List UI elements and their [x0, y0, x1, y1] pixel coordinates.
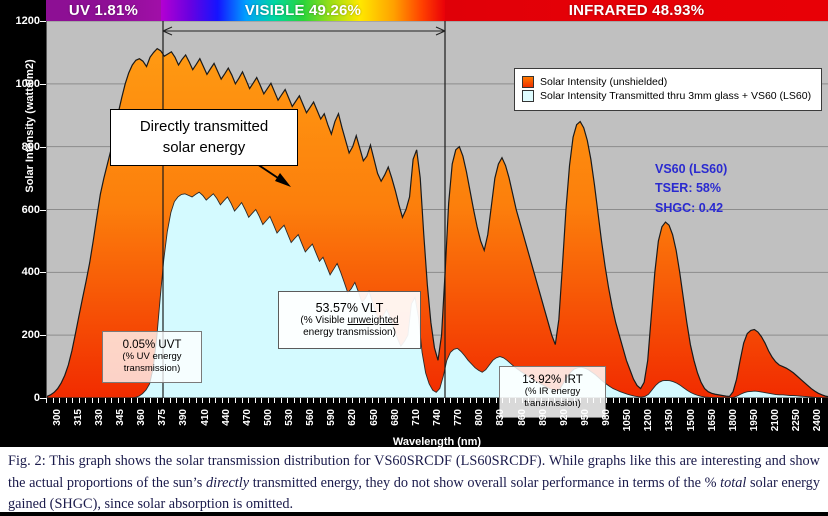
- x-tick-300: 300: [53, 409, 63, 426]
- x-minor-tick: [587, 398, 588, 403]
- legend-item-transmitted: Solar Intensity Transmitted thru 3mm gla…: [522, 90, 814, 102]
- x-minor-tick: [378, 398, 379, 403]
- x-minor-tick: [281, 398, 282, 403]
- legend-swatch-cyan-icon: [522, 90, 534, 102]
- caption-italic-directly: directly: [206, 475, 249, 491]
- x-minor-tick: [463, 398, 464, 403]
- x-minor-tick: [567, 398, 568, 403]
- x-tick-560: 560: [306, 409, 316, 426]
- x-tick-1200: 1200: [644, 409, 654, 431]
- x-minor-tick: [528, 398, 529, 403]
- x-tick-920: 920: [560, 409, 570, 426]
- x-tick-440: 440: [222, 409, 232, 426]
- x-minor-tick: [424, 398, 425, 403]
- x-minor-tick: [730, 398, 731, 403]
- solar-spectrum-chart: UV 1.81% VISIBLE 49.26% INFRARED 48.93% …: [0, 0, 828, 447]
- x-minor-tick: [470, 398, 471, 403]
- x-tick-830: 830: [496, 409, 506, 426]
- x-minor-tick: [561, 398, 562, 403]
- spec-product: VS60 (LS60): [655, 160, 727, 179]
- x-minor-tick: [398, 398, 399, 403]
- x-minor-tick: [821, 398, 822, 403]
- band-infrared: INFRARED 48.93%: [445, 0, 828, 21]
- x-minor-tick: [711, 398, 712, 403]
- x-minor-tick: [176, 398, 177, 403]
- x-tick-2400: 2400: [813, 409, 823, 431]
- x-minor-tick: [294, 398, 295, 403]
- callout-irt-value: 13.92% IRT: [522, 374, 583, 386]
- callout-direct-line1: Directly transmitted: [140, 117, 268, 137]
- x-minor-tick: [698, 398, 699, 403]
- x-tick-680: 680: [391, 409, 401, 426]
- x-tick-1800: 1800: [729, 409, 739, 431]
- x-minor-tick: [437, 398, 438, 403]
- x-minor-tick: [255, 398, 256, 403]
- x-minor-tick: [313, 398, 314, 403]
- x-minor-tick: [509, 398, 510, 403]
- figure-caption-text: Fig. 2: This graph shows the solar trans…: [8, 451, 820, 516]
- callout-uvt: 0.05% UVT (% UV energy transmission): [102, 331, 202, 383]
- x-minor-tick: [444, 398, 445, 403]
- spec-shgc: SHGC: 0.42: [655, 199, 727, 218]
- callout-vlt-line1: (% Visible unweighted: [300, 315, 398, 328]
- x-minor-tick: [150, 398, 151, 403]
- band-visible: VISIBLE 49.26%: [161, 0, 445, 21]
- x-minor-tick: [79, 398, 80, 403]
- x-minor-tick: [202, 398, 203, 403]
- x-minor-tick: [685, 398, 686, 403]
- x-tick-375: 375: [158, 409, 168, 426]
- figure-page: UV 1.81% VISIBLE 49.26% INFRARED 48.93% …: [0, 0, 828, 512]
- x-minor-tick: [600, 398, 601, 403]
- band-infrared-label: INFRARED 48.93%: [569, 2, 705, 19]
- x-tick-360: 360: [137, 409, 147, 426]
- band-uv: UV 1.81%: [46, 0, 161, 21]
- x-minor-tick: [300, 398, 301, 403]
- x-tick-1950: 1950: [750, 409, 760, 431]
- callout-uvt-value: 0.05% UVT: [123, 339, 182, 351]
- x-minor-tick: [352, 398, 353, 403]
- callout-uvt-line1: (% UV energy: [122, 351, 181, 363]
- x-minor-tick: [131, 398, 132, 403]
- x-minor-tick: [242, 398, 243, 403]
- callout-vlt-line1-a: (% Visible: [300, 315, 347, 326]
- x-tick-890: 890: [539, 409, 549, 426]
- x-tick-1500: 1500: [687, 409, 697, 431]
- caption-part2: transmitted energy, they do not show ove…: [249, 475, 720, 491]
- callout-vlt-line1-underlined: unweighted: [347, 315, 398, 326]
- x-tick-470: 470: [243, 409, 253, 426]
- x-minor-tick: [691, 398, 692, 403]
- x-minor-tick: [535, 398, 536, 403]
- x-tick-500: 500: [264, 409, 274, 426]
- x-minor-tick: [724, 398, 725, 403]
- x-minor-tick: [92, 398, 93, 403]
- x-minor-tick: [515, 398, 516, 403]
- x-minor-tick: [137, 398, 138, 403]
- x-minor-tick: [795, 398, 796, 403]
- visible-range-arrow: [163, 27, 445, 35]
- x-tick-950: 950: [581, 409, 591, 426]
- x-minor-tick: [85, 398, 86, 403]
- y-tick-600: 600: [22, 204, 40, 216]
- x-tick-740: 740: [433, 409, 443, 426]
- x-minor-tick: [541, 398, 542, 403]
- band-uv-label: UV 1.81%: [69, 2, 138, 19]
- x-minor-tick: [66, 398, 67, 403]
- x-minor-tick: [105, 398, 106, 403]
- x-minor-tick: [391, 398, 392, 403]
- x-tick-1050: 1050: [623, 409, 633, 431]
- x-minor-tick: [359, 398, 360, 403]
- x-minor-tick: [737, 398, 738, 403]
- x-minor-tick: [98, 398, 99, 403]
- x-tick-860: 860: [518, 409, 528, 426]
- x-minor-tick: [430, 398, 431, 403]
- callout-vlt-line2: energy transmission): [303, 327, 396, 340]
- x-minor-tick: [763, 398, 764, 403]
- x-tick-2100: 2100: [771, 409, 781, 431]
- x-minor-tick: [756, 398, 757, 403]
- x-minor-tick: [743, 398, 744, 403]
- x-minor-tick: [189, 398, 190, 403]
- x-minor-tick: [228, 398, 229, 403]
- x-minor-tick: [704, 398, 705, 403]
- x-tick-410: 410: [201, 409, 211, 426]
- product-spec-text: VS60 (LS60) TSER: 58% SHGC: 0.42: [655, 160, 727, 218]
- x-minor-tick: [307, 398, 308, 403]
- x-minor-tick: [646, 398, 647, 403]
- x-minor-tick: [144, 398, 145, 403]
- x-minor-tick: [404, 398, 405, 403]
- x-tick-590: 590: [327, 409, 337, 426]
- x-minor-tick: [339, 398, 340, 403]
- x-minor-tick: [574, 398, 575, 403]
- x-minor-tick: [170, 398, 171, 403]
- x-minor-tick: [196, 398, 197, 403]
- y-tick-1000: 1000: [16, 78, 40, 90]
- legend-swatch-orange-icon: [522, 76, 534, 88]
- x-tick-330: 330: [95, 409, 105, 426]
- x-tick-390: 390: [179, 409, 189, 426]
- figure-caption: Fig. 2: This graph shows the solar trans…: [0, 447, 828, 512]
- callout-uvt-line2: transmission): [124, 363, 181, 375]
- x-minor-tick: [665, 398, 666, 403]
- x-minor-tick: [678, 398, 679, 403]
- x-minor-tick: [606, 398, 607, 403]
- x-minor-tick: [365, 398, 366, 403]
- x-minor-tick: [802, 398, 803, 403]
- x-minor-tick: [593, 398, 594, 403]
- spec-tser: TSER: 58%: [655, 179, 727, 198]
- legend-label-unshielded: Solar Intensity (unshielded): [540, 76, 667, 88]
- x-minor-tick: [580, 398, 581, 403]
- x-minor-tick: [274, 398, 275, 403]
- x-minor-tick: [633, 398, 634, 403]
- x-minor-tick: [326, 398, 327, 403]
- x-minor-tick: [111, 398, 112, 403]
- x-minor-tick: [619, 398, 620, 403]
- callout-vlt-value: 53.57% VLT: [316, 301, 384, 315]
- x-minor-tick: [672, 398, 673, 403]
- x-minor-tick: [46, 398, 47, 403]
- x-minor-tick: [782, 398, 783, 403]
- x-minor-tick: [717, 398, 718, 403]
- x-tick-650: 650: [370, 409, 380, 426]
- legend-label-transmitted: Solar Intensity Transmitted thru 3mm gla…: [540, 90, 811, 102]
- x-minor-tick: [489, 398, 490, 403]
- x-minor-tick: [183, 398, 184, 403]
- x-minor-tick: [157, 398, 158, 403]
- x-minor-tick: [287, 398, 288, 403]
- x-minor-tick: [554, 398, 555, 403]
- x-minor-tick: [522, 398, 523, 403]
- y-tick-400: 400: [22, 266, 40, 278]
- x-minor-tick: [163, 398, 164, 403]
- x-minor-tick: [235, 398, 236, 403]
- x-minor-tick: [496, 398, 497, 403]
- chart-legend: Solar Intensity (unshielded) Solar Inten…: [514, 68, 822, 111]
- y-tick-1200: 1200: [16, 15, 40, 27]
- x-tick-1650: 1650: [708, 409, 718, 431]
- x-minor-tick: [457, 398, 458, 403]
- x-minor-tick: [268, 398, 269, 403]
- x-minor-tick: [639, 398, 640, 403]
- x-minor-tick: [372, 398, 373, 403]
- x-minor-tick: [346, 398, 347, 403]
- x-minor-tick: [652, 398, 653, 403]
- x-tick-530: 530: [285, 409, 295, 426]
- y-tick-200: 200: [22, 329, 40, 341]
- x-minor-tick: [333, 398, 334, 403]
- x-minor-tick: [209, 398, 210, 403]
- x-minor-tick: [385, 398, 386, 403]
- x-minor-tick: [411, 398, 412, 403]
- x-minor-tick: [659, 398, 660, 403]
- x-tick-315: 315: [74, 409, 84, 426]
- x-minor-tick: [417, 398, 418, 403]
- x-minor-tick: [483, 398, 484, 403]
- x-minor-tick: [450, 398, 451, 403]
- legend-item-unshielded: Solar Intensity (unshielded): [522, 76, 814, 88]
- x-minor-tick: [502, 398, 503, 403]
- x-minor-tick: [750, 398, 751, 403]
- band-visible-label: VISIBLE 49.26%: [245, 2, 361, 19]
- x-minor-tick: [59, 398, 60, 403]
- x-minor-tick: [769, 398, 770, 403]
- x-minor-tick: [248, 398, 249, 403]
- y-axis-title: Solar Intensity (watts/m2): [24, 36, 36, 216]
- x-minor-tick: [320, 398, 321, 403]
- callout-direct-line2: solar energy: [163, 138, 246, 158]
- callout-irt-line1: (% IR energy: [525, 386, 580, 398]
- x-tick-710: 710: [412, 409, 422, 426]
- x-tick-620: 620: [348, 409, 358, 426]
- x-tick-2250: 2250: [792, 409, 802, 431]
- x-tick-1350: 1350: [665, 409, 675, 431]
- x-minor-tick: [626, 398, 627, 403]
- y-tick-800: 800: [22, 141, 40, 153]
- x-minor-tick: [124, 398, 125, 403]
- x-minor-tick: [476, 398, 477, 403]
- x-minor-tick: [776, 398, 777, 403]
- x-tick-800: 800: [475, 409, 485, 426]
- plot-area: Solar Intensity (unshielded) Solar Inten…: [46, 21, 828, 398]
- x-minor-tick: [215, 398, 216, 403]
- x-minor-tick: [261, 398, 262, 403]
- callout-direct-transmitted: Directly transmitted solar energy: [110, 109, 298, 166]
- x-tick-770: 770: [454, 409, 464, 426]
- x-minor-tick: [789, 398, 790, 403]
- x-minor-tick: [548, 398, 549, 403]
- x-minor-tick: [808, 398, 809, 403]
- x-axis: 3003153303453603753904104404705005305605…: [46, 398, 828, 447]
- x-minor-tick: [53, 398, 54, 403]
- callout-vlt: 53.57% VLT (% Visible unweighted energy …: [278, 291, 421, 349]
- y-axis: Solar Intensity (watts/m2) 0200400600800…: [0, 0, 46, 419]
- caption-italic-total: total: [720, 475, 746, 491]
- x-minor-tick: [613, 398, 614, 403]
- x-tick-345: 345: [116, 409, 126, 426]
- spectrum-band-bar: UV 1.81% VISIBLE 49.26% INFRARED 48.93%: [46, 0, 828, 21]
- x-minor-tick: [118, 398, 119, 403]
- x-minor-tick: [815, 398, 816, 403]
- x-minor-tick: [222, 398, 223, 403]
- x-minor-tick: [72, 398, 73, 403]
- x-tick-980: 980: [602, 409, 612, 426]
